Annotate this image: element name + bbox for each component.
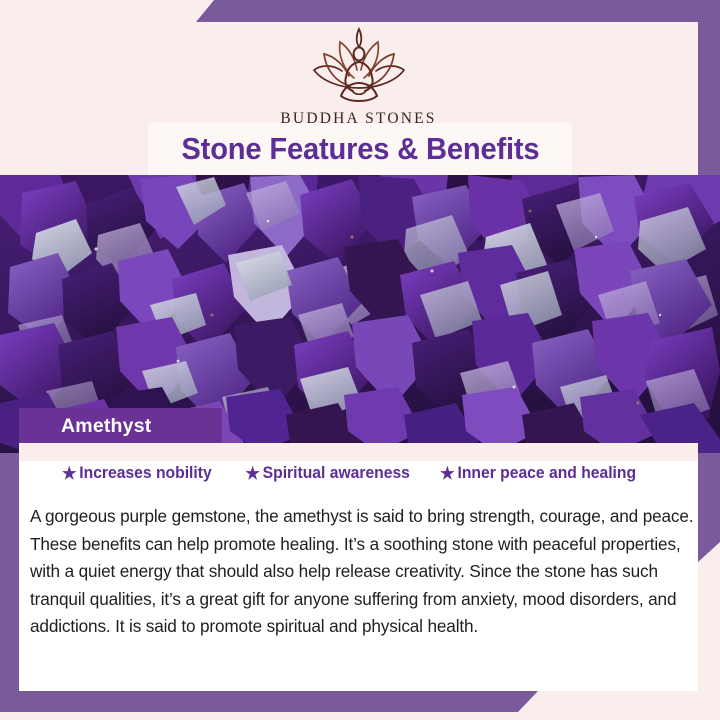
feature-item: ★ Increases nobility xyxy=(62,464,212,483)
feature-list: ★ Increases nobility ★ Spiritual awarene… xyxy=(19,464,709,483)
brand-logo: BUDDHA STONES xyxy=(19,26,698,128)
stone-name: Amethyst xyxy=(19,415,151,438)
feature-item: ★ Spiritual awareness xyxy=(245,464,410,483)
frame-band-bottom xyxy=(0,691,538,712)
feature-label: Increases nobility xyxy=(79,464,211,483)
stone-description: A gorgeous purple gemstone, the amethyst… xyxy=(30,503,694,641)
star-icon: ★ xyxy=(245,465,259,482)
star-icon: ★ xyxy=(440,465,454,482)
frame-band-top xyxy=(196,0,720,22)
feature-label: Spiritual awareness xyxy=(262,464,409,483)
stone-info-poster: BUDDHA STONES Stone Features & Benefits xyxy=(0,0,720,720)
star-icon: ★ xyxy=(62,465,76,482)
lotus-meditation-icon xyxy=(300,26,418,108)
feature-item: ★ Inner peace and healing xyxy=(440,464,636,483)
stone-name-banner: Amethyst xyxy=(19,408,222,444)
title-card: Stone Features & Benefits xyxy=(148,123,572,175)
feature-label: Inner peace and healing xyxy=(457,464,636,483)
frame-band-left xyxy=(0,443,19,693)
page-title: Stone Features & Benefits xyxy=(181,131,539,167)
panel-top-strip xyxy=(19,443,698,461)
